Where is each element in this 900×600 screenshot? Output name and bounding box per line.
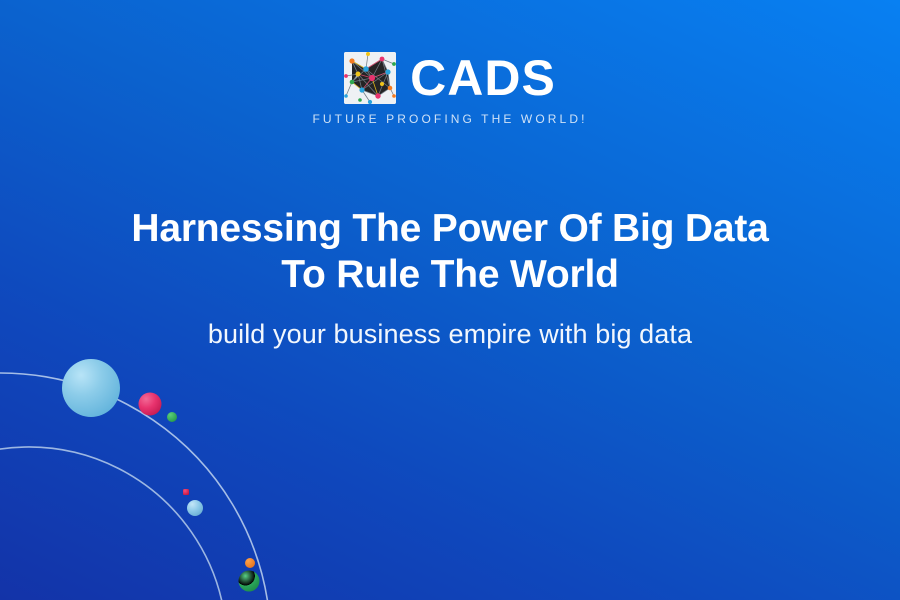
light-blue-sphere — [187, 500, 203, 516]
logo-tagline: FUTURE PROOFING THE WORLD! — [0, 113, 900, 125]
large-blue-sphere — [62, 359, 120, 417]
orange-dot — [245, 558, 255, 568]
headline-line-2: To Rule The World — [0, 252, 900, 298]
slide-canvas: CADS FUTURE PROOFING THE WORLD! Harnessi… — [0, 0, 900, 600]
pink-sphere — [139, 393, 162, 416]
network-graph-icon — [344, 52, 396, 104]
logo-row: CADS — [0, 52, 900, 104]
crimson-dot — [183, 489, 189, 495]
logo-wordmark: CADS — [410, 53, 556, 103]
small-green-dot — [167, 412, 177, 422]
subtitle: build your business empire with big data — [0, 317, 900, 352]
page-title: Harnessing The Power Of Big Data To Rule… — [0, 206, 900, 298]
brand-logo: CADS FUTURE PROOFING THE WORLD! — [0, 52, 900, 125]
green-sphere — [239, 571, 260, 592]
inner-orbit-arc — [0, 447, 224, 600]
headline-line-1: Harnessing The Power Of Big Data — [0, 206, 900, 252]
outer-orbit-arc — [0, 373, 268, 600]
